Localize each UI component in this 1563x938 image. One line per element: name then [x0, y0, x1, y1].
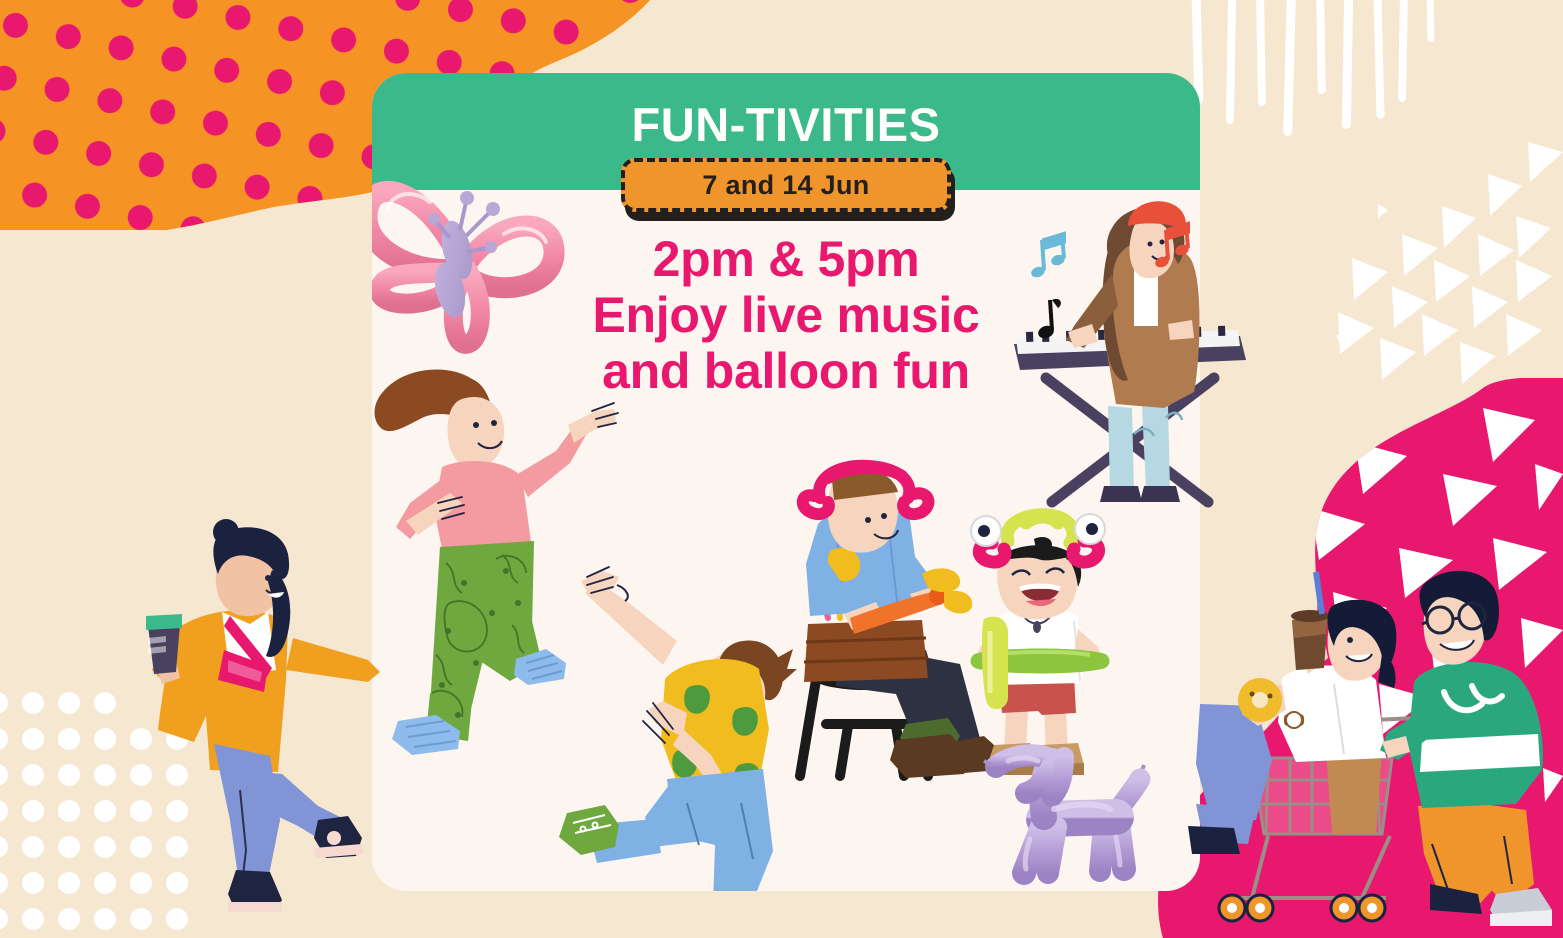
poodle-balloon [982, 723, 1172, 891]
butterfly-balloon [372, 168, 569, 363]
woman-with-coffee [118, 520, 388, 938]
date-badge: 7 and 14 Jun [621, 158, 951, 212]
poster: FUN-TIVITIES 7 and 14 Jun 2pm & 5pm Enjo… [0, 0, 1563, 938]
shopping-cart-pair [1186, 554, 1563, 938]
dancing-boy [557, 473, 807, 891]
keyboard-player [1008, 196, 1268, 516]
date-badge-label: 7 and 14 Jun [621, 158, 951, 212]
white-scattered-triangles [1330, 130, 1563, 430]
page-title: FUN-TIVITIES [372, 97, 1200, 152]
white-vertical-streaks [1185, 0, 1445, 150]
